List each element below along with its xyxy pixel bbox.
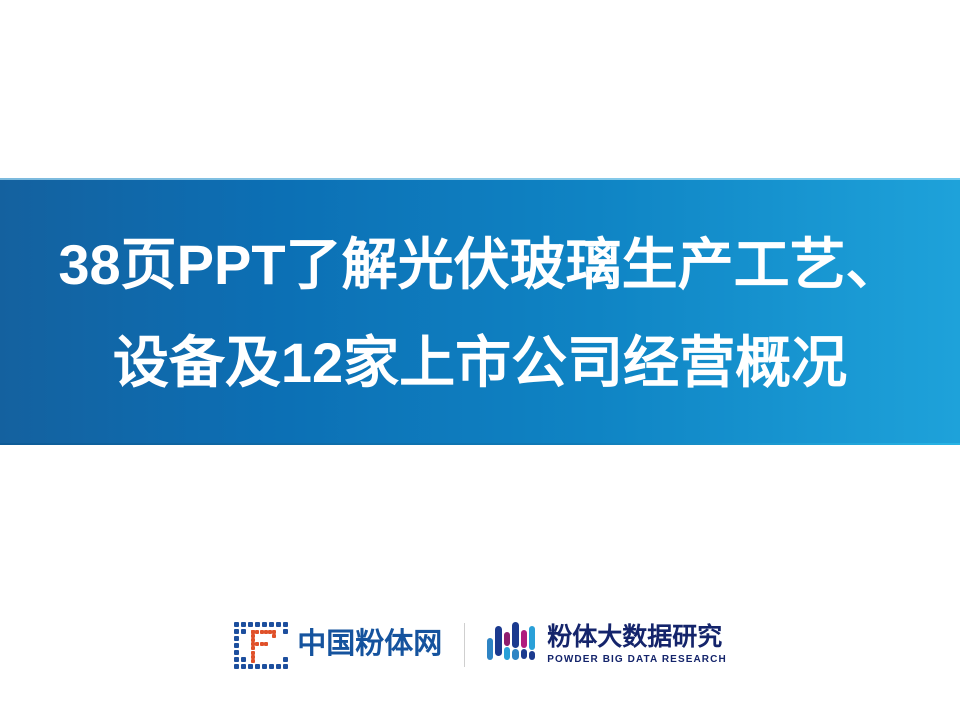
logo-china-powder-net[interactable]: 中国粉体网	[233, 620, 442, 670]
logo-powder-big-data-label-cn: 粉体大数据研究	[547, 624, 727, 651]
slide-canvas: 38页PPT了解光伏玻璃生产工艺、 设备及12家上市公司经营概况 中国粉体网 粉…	[0, 0, 960, 720]
logo-powder-big-data-label-en: POWDER BIG DATA RESEARCH	[547, 654, 727, 665]
title-banner: 38页PPT了解光伏玻璃生产工艺、 设备及12家上市公司经营概况	[0, 178, 960, 445]
footer-logo-bar: 中国粉体网 粉体大数据研究 POWDER BIG DATA RESEARCH	[0, 607, 960, 682]
title-line-1: 38页PPT了解光伏玻璃生产工艺、	[58, 236, 901, 293]
cf-dot-matrix-logo-icon	[233, 620, 291, 670]
logo-divider	[464, 623, 465, 667]
title-line-2: 设备及12家上市公司经营概况	[113, 334, 847, 391]
logo-powder-big-data[interactable]: 粉体大数据研究 POWDER BIG DATA RESEARCH	[487, 620, 727, 670]
bar-chart-logo-icon	[487, 620, 537, 670]
logo-powder-big-data-text: 粉体大数据研究 POWDER BIG DATA RESEARCH	[547, 624, 727, 665]
logo-china-powder-net-label: 中国粉体网	[297, 630, 442, 659]
